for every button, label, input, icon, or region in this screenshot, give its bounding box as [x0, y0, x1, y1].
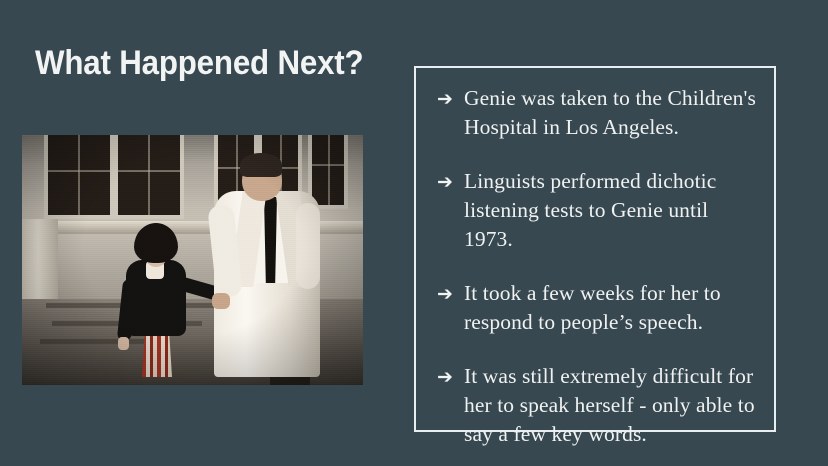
list-item: ➔ Genie was taken to the Children's Hosp… [426, 84, 760, 142]
list-item-text: It took a few weeks for her to respond t… [464, 279, 760, 337]
list-item-text: Genie was taken to the Children's Hospit… [464, 84, 760, 142]
arrow-right-icon: ➔ [426, 84, 464, 114]
photo-vignette-overlay [22, 135, 363, 385]
bullet-list: ➔ Genie was taken to the Children's Hosp… [426, 84, 760, 449]
arrow-right-icon: ➔ [426, 362, 464, 392]
photo-scene [22, 135, 363, 385]
list-item: ➔ Linguists performed dichotic listening… [426, 167, 760, 254]
arrow-right-icon: ➔ [426, 279, 464, 309]
page-title: What Happened Next? [35, 44, 363, 83]
arrow-right-icon: ➔ [426, 167, 464, 197]
slide: What Happened Next? [0, 0, 828, 466]
bullet-list-box: ➔ Genie was taken to the Children's Hosp… [414, 66, 776, 432]
list-item-text: It was still extremely difficult for her… [464, 362, 760, 449]
list-item: ➔ It took a few weeks for her to respond… [426, 279, 760, 337]
list-item-text: Linguists performed dichotic listening t… [464, 167, 760, 254]
genie-photo [22, 135, 363, 385]
list-item: ➔ It was still extremely difficult for h… [426, 362, 760, 449]
